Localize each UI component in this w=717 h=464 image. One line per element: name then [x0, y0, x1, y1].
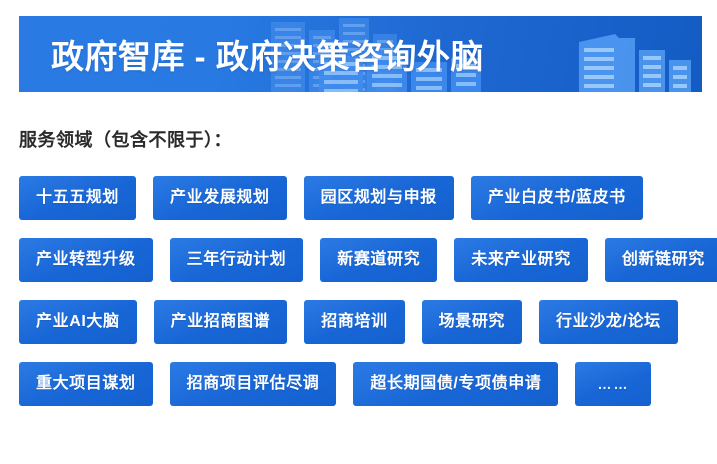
service-tag-list: 十五五规划 产业发展规划 园区规划与申报 产业白皮书/蓝皮书 产业转型升级 三年…: [19, 176, 702, 424]
service-tag[interactable]: 招商项目评估尽调: [170, 362, 337, 406]
tag-row: 十五五规划 产业发展规划 园区规划与申报 产业白皮书/蓝皮书: [19, 176, 702, 220]
service-tag[interactable]: 产业转型升级: [19, 238, 153, 282]
service-tag[interactable]: 新赛道研究: [320, 238, 437, 282]
service-tag[interactable]: 产业招商图谱: [154, 300, 288, 344]
poster-root: 政府智库 - 政府决策咨询外脑 服务领域（包含不限于）： 十五五规划 产业发展规…: [0, 0, 717, 464]
service-tag[interactable]: 产业AI大脑: [19, 300, 137, 344]
service-tag[interactable]: 创新链研究: [605, 238, 717, 282]
service-tag[interactable]: 产业白皮书/蓝皮书: [471, 176, 643, 220]
service-tag[interactable]: 行业沙龙/论坛: [539, 300, 678, 344]
service-tag[interactable]: 三年行动计划: [170, 238, 304, 282]
service-tag[interactable]: 超长期国债/专项债申请: [353, 362, 558, 406]
service-tag[interactable]: 产业发展规划: [153, 176, 287, 220]
service-tag[interactable]: 园区规划与申报: [304, 176, 454, 220]
section-subtitle: 服务领域（包含不限于）：: [19, 126, 232, 152]
tag-row: 产业转型升级 三年行动计划 新赛道研究 未来产业研究 创新链研究: [19, 238, 702, 282]
tag-row: 产业AI大脑 产业招商图谱 招商培训 场景研究 行业沙龙/论坛: [19, 300, 702, 344]
header-banner: 政府智库 - 政府决策咨询外脑: [19, 16, 702, 92]
service-tag[interactable]: 场景研究: [422, 300, 522, 344]
service-tag[interactable]: 重大项目谋划: [19, 362, 153, 406]
service-tag-more[interactable]: ……: [575, 362, 651, 406]
page-title: 政府智库 - 政府决策咨询外脑: [51, 16, 484, 92]
tag-row: 重大项目谋划 招商项目评估尽调 超长期国债/专项债申请 ……: [19, 362, 702, 406]
service-tag[interactable]: 招商培训: [304, 300, 404, 344]
service-tag[interactable]: 未来产业研究: [454, 238, 588, 282]
service-tag[interactable]: 十五五规划: [19, 176, 136, 220]
